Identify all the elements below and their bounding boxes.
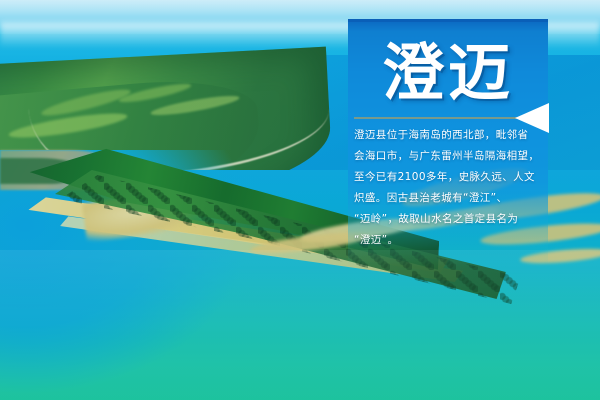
title-rule <box>354 117 518 119</box>
info-card: 澄迈 澄迈县位于海南岛的西北部，毗邻省 会海口市，与广东雷州半岛隔海相望， 至今… <box>348 19 548 267</box>
banner-canvas: 澄迈 澄迈县位于海南岛的西北部，毗邻省 会海口市，与广东雷州半岛隔海相望， 至今… <box>0 0 600 400</box>
description-line: “澄迈”。 <box>354 230 544 251</box>
card-top-edge <box>348 19 548 22</box>
description-line: 澄迈县位于海南岛的西北部，毗邻省 <box>354 125 544 146</box>
description-line: 炽盛。因古县治老城有“澄江”、 <box>354 188 544 209</box>
description-line: “迈岭”，故取山水名之首定县名为 <box>354 209 544 230</box>
description-line: 会海口市，与广东雷州半岛隔海相望， <box>354 146 544 167</box>
description-text: 澄迈县位于海南岛的西北部，毗邻省 会海口市，与广东雷州半岛隔海相望， 至今已有2… <box>354 125 544 251</box>
description-line: 至今已有2100多年，史脉久远、人文 <box>354 167 544 188</box>
